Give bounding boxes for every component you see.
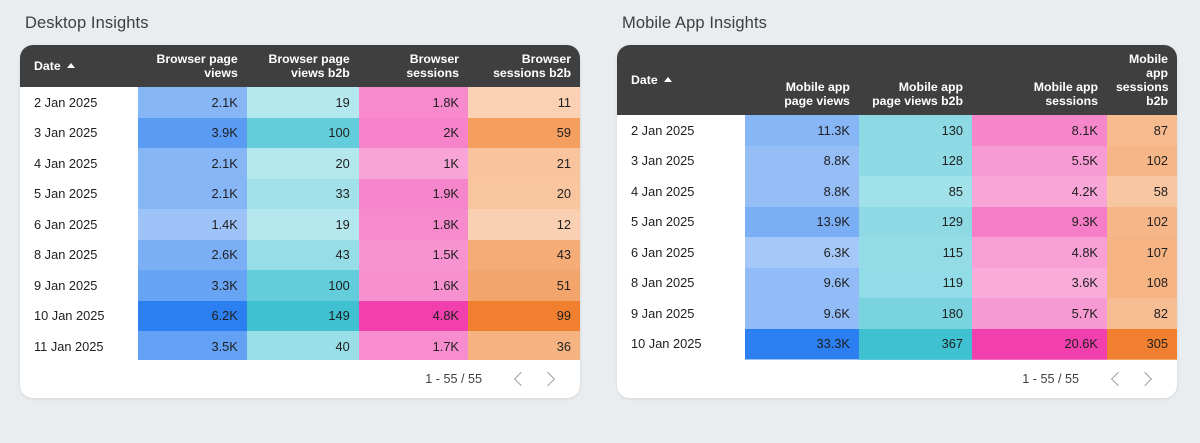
triangle-up-icon [67,63,75,68]
cell-bpv: 2.1K [138,179,247,210]
column-header-msb[interactable]: Mobile app sessions b2b [1107,45,1177,115]
cell-bpvb: 40 [247,331,359,362]
cell-bs: 1.9K [359,179,468,210]
cell-mpv: 8.8K [745,146,859,177]
pagination-prev-button[interactable] [504,364,534,394]
cell-bpvb: 43 [247,240,359,271]
cell-msb: 87 [1107,115,1177,146]
cell-date: 6 Jan 2025 [617,237,745,268]
cell-date: 6 Jan 2025 [20,209,138,240]
cell-date: 9 Jan 2025 [20,270,138,301]
cell-mpvb: 128 [859,146,972,177]
cell-date: 10 Jan 2025 [617,329,745,360]
table-row[interactable]: 2 Jan 20252.1K191.8K11 [20,87,580,118]
cell-mpv: 9.6K [745,298,859,329]
cell-date: 10 Jan 2025 [20,301,138,332]
pagination-prev-button[interactable] [1101,364,1131,394]
table-row[interactable]: 3 Jan 20253.9K1002K59 [20,118,580,149]
table-row[interactable]: 10 Jan 202533.3K36720.6K305 [617,329,1177,360]
page-title-mobile: Mobile App Insights [622,14,1177,33]
cell-mpvb: 130 [859,115,972,146]
cell-bsb: 36 [468,331,580,362]
cell-bs: 1K [359,148,468,179]
cell-mpv: 8.8K [745,176,859,207]
cell-bpvb: 20 [247,148,359,179]
column-header-mpv[interactable]: Mobile app page views [745,45,859,115]
table-row[interactable]: 4 Jan 20258.8K854.2K58 [617,176,1177,207]
cell-bs: 1.5K [359,240,468,271]
cell-bpv: 6.2K [138,301,247,332]
cell-date: 9 Jan 2025 [617,298,745,329]
column-header-bpvb[interactable]: Browser page views b2b [247,45,359,87]
table-row[interactable]: 3 Jan 20258.8K1285.5K102 [617,146,1177,177]
card-desktop-insights: DateBrowser page viewsBrowser page views… [20,45,580,398]
cell-mpvb: 119 [859,268,972,299]
cell-bpv: 3.5K [138,331,247,362]
chevron-left-icon [1110,372,1124,386]
cell-mpvb: 367 [859,329,972,360]
cell-date: 5 Jan 2025 [20,179,138,210]
cell-bpvb: 19 [247,87,359,118]
cell-bpvb: 100 [247,270,359,301]
cell-ms: 4.8K [972,237,1107,268]
column-header-bpv[interactable]: Browser page views [138,45,247,87]
cell-bs: 1.7K [359,331,468,362]
panel-mobile-app-insights: Mobile App Insights DateMobile app page … [617,14,1177,398]
cell-mpv: 33.3K [745,329,859,360]
cell-mpv: 9.6K [745,268,859,299]
cell-date: 3 Jan 2025 [20,118,138,149]
pagination-next-button[interactable] [1131,364,1161,394]
cell-bsb: 99 [468,301,580,332]
table-body-mobile: 2 Jan 202511.3K1308.1K873 Jan 20258.8K12… [617,115,1177,390]
cell-bs: 1.8K [359,209,468,240]
table-row[interactable]: 5 Jan 20252.1K331.9K20 [20,179,580,210]
column-header-bs[interactable]: Browser sessions [359,45,468,87]
table-head-mobile: DateMobile app page viewsMobile app page… [617,45,1177,115]
cell-bsb: 59 [468,118,580,149]
column-header-label: Date [34,59,61,73]
triangle-up-icon [664,77,672,82]
table-row[interactable]: 10 Jan 20256.2K1494.8K99 [20,301,580,332]
cell-bsb: 51 [468,270,580,301]
cell-bpvb: 100 [247,118,359,149]
panel-desktop-insights: Desktop Insights DateBrowser page viewsB… [20,14,580,398]
cell-bpvb: 149 [247,301,359,332]
cell-mpv: 11.3K [745,115,859,146]
cell-bs: 4.8K [359,301,468,332]
cell-bpv: 3.9K [138,118,247,149]
chevron-left-icon [513,372,527,386]
cell-date: 4 Jan 2025 [617,176,745,207]
table-row[interactable]: 6 Jan 20256.3K1154.8K107 [617,237,1177,268]
table-row[interactable]: 8 Jan 20252.6K431.5K43 [20,240,580,271]
column-header-bsb[interactable]: Browser sessions b2b [468,45,580,87]
cell-date: 8 Jan 2025 [20,240,138,271]
cell-msb: 82 [1107,298,1177,329]
cell-ms: 4.2K [972,176,1107,207]
page-title-desktop: Desktop Insights [25,14,580,33]
cell-ms: 20.6K [972,329,1107,360]
table-mobile-app-insights: DateMobile app page viewsMobile app page… [617,45,1177,390]
table-row[interactable]: 5 Jan 202513.9K1299.3K102 [617,207,1177,238]
column-header-date[interactable]: Date [20,45,138,87]
cell-bpv: 2.1K [138,148,247,179]
cell-date: 2 Jan 2025 [617,115,745,146]
cell-mpvb: 180 [859,298,972,329]
column-header-label: Date [631,73,658,87]
cell-msb: 305 [1107,329,1177,360]
cell-ms: 8.1K [972,115,1107,146]
pagination-range-label: 1 - 55 / 55 [425,372,482,386]
cell-mpvb: 85 [859,176,972,207]
cell-bpv: 2.1K [138,87,247,118]
cell-bpvb: 19 [247,209,359,240]
cell-date: 11 Jan 2025 [20,331,138,362]
card-mobile-app-insights: DateMobile app page viewsMobile app page… [617,45,1177,398]
cell-bs: 1.6K [359,270,468,301]
cell-ms: 3.6K [972,268,1107,299]
pagination-range-label: 1 - 55 / 55 [1022,372,1079,386]
pagination-mobile: 1 - 55 / 55 [617,360,1177,398]
cell-ms: 9.3K [972,207,1107,238]
pagination-next-button[interactable] [534,364,564,394]
cell-bsb: 20 [468,179,580,210]
cell-date: 4 Jan 2025 [20,148,138,179]
cell-bsb: 21 [468,148,580,179]
column-header-date[interactable]: Date [617,45,745,115]
table-body-desktop: 2 Jan 20252.1K191.8K113 Jan 20253.9K1002… [20,87,580,392]
table-row[interactable]: 2 Jan 202511.3K1308.1K87 [617,115,1177,146]
cell-msb: 108 [1107,268,1177,299]
cell-date: 3 Jan 2025 [617,146,745,177]
table-row[interactable]: 11 Jan 20253.5K401.7K36 [20,331,580,362]
cell-msb: 107 [1107,237,1177,268]
cell-ms: 5.7K [972,298,1107,329]
table-row[interactable]: 8 Jan 20259.6K1193.6K108 [617,268,1177,299]
table-row[interactable]: 9 Jan 20253.3K1001.6K51 [20,270,580,301]
header-row: DateBrowser page viewsBrowser page views… [20,45,580,87]
cell-date: 8 Jan 2025 [617,268,745,299]
cell-msb: 102 [1107,146,1177,177]
column-header-label: Mobile app sessions [1034,80,1098,108]
cell-date: 2 Jan 2025 [20,87,138,118]
column-header-label: Browser page views b2b [268,52,349,80]
dashboard-page: Desktop Insights DateBrowser page viewsB… [0,0,1200,443]
table-row[interactable]: 9 Jan 20259.6K1805.7K82 [617,298,1177,329]
cell-ms: 5.5K [972,146,1107,177]
chevron-right-icon [1137,372,1151,386]
column-header-label: Browser sessions [406,52,459,80]
cell-bsb: 11 [468,87,580,118]
column-header-ms[interactable]: Mobile app sessions [972,45,1107,115]
chevron-right-icon [540,372,554,386]
table-row[interactable]: 4 Jan 20252.1K201K21 [20,148,580,179]
table-desktop-insights: DateBrowser page viewsBrowser page views… [20,45,580,392]
pagination-desktop: 1 - 55 / 55 [20,360,580,398]
cell-msb: 58 [1107,176,1177,207]
cell-bpv: 2.6K [138,240,247,271]
header-row: DateMobile app page viewsMobile app page… [617,45,1177,115]
column-header-label: Browser sessions b2b [493,52,571,80]
table-row[interactable]: 6 Jan 20251.4K191.8K12 [20,209,580,240]
column-header-label: Browser page views [156,52,237,80]
cell-bpvb: 33 [247,179,359,210]
column-header-label: Mobile app sessions b2b [1116,52,1169,108]
column-header-mpvb[interactable]: Mobile app page views b2b [859,45,972,115]
cell-mpv: 6.3K [745,237,859,268]
cell-mpv: 13.9K [745,207,859,238]
column-header-label: Mobile app page views [784,80,850,108]
cell-bpv: 3.3K [138,270,247,301]
cell-bs: 2K [359,118,468,149]
cell-mpvb: 129 [859,207,972,238]
cell-bpv: 1.4K [138,209,247,240]
cell-bsb: 12 [468,209,580,240]
column-header-label: Mobile app page views b2b [872,80,963,108]
cell-mpvb: 115 [859,237,972,268]
table-head-desktop: DateBrowser page viewsBrowser page views… [20,45,580,87]
cell-date: 5 Jan 2025 [617,207,745,238]
cell-bsb: 43 [468,240,580,271]
cell-msb: 102 [1107,207,1177,238]
cell-bs: 1.8K [359,87,468,118]
